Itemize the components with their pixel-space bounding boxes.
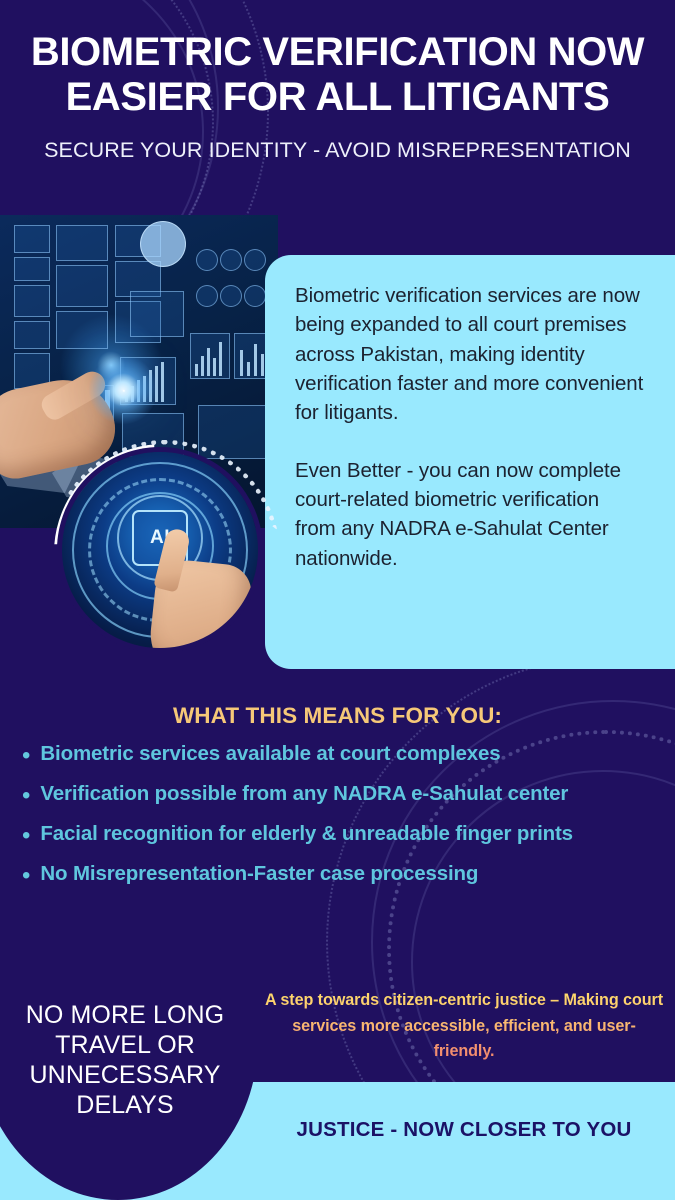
photo-gauge <box>220 249 242 271</box>
bullet-dot-icon: • <box>22 744 30 768</box>
touching-hand <box>146 557 254 648</box>
info-paragraph-2: Even Better - you can now complete court… <box>295 456 645 573</box>
photo-tile <box>14 257 50 281</box>
photo-area-chart <box>130 291 184 337</box>
list-item: • Biometric services available at court … <box>14 742 664 768</box>
closing-statement: JUSTICE - NOW CLOSER TO YOU <box>262 1118 666 1142</box>
headline: BIOMETRIC VERIFICATION NOW EASIER FOR AL… <box>12 30 663 120</box>
photo-gauge <box>244 285 266 307</box>
bullet-label: Biometric services available at court co… <box>40 742 500 766</box>
list-item: • No Misrepresentation-Faster case proce… <box>14 862 664 888</box>
tagline-text: A step towards citizen-centric justice –… <box>262 988 666 1065</box>
photo-tile <box>14 285 50 317</box>
list-item: • Verification possible from any NADRA e… <box>14 782 664 808</box>
info-panel: Biometric verification services are now … <box>265 255 675 669</box>
bullet-dot-icon: • <box>22 824 30 848</box>
infographic-poster: BIOMETRIC VERIFICATION NOW EASIER FOR AL… <box>0 0 675 1200</box>
bullet-dot-icon: • <box>22 864 30 888</box>
list-item: • Facial recognition for elderly & unrea… <box>14 822 664 848</box>
photo-gauge <box>244 249 266 271</box>
photo-gauge <box>220 285 242 307</box>
photo-tile <box>56 225 108 261</box>
poster-header: BIOMETRIC VERIFICATION NOW EASIER FOR AL… <box>0 0 675 163</box>
photo-tile <box>56 311 108 349</box>
bullet-label: Verification possible from any NADRA e-S… <box>40 782 568 806</box>
bullet-label: Facial recognition for elderly & unreada… <box>40 822 573 846</box>
means-bullet-list: • Biometric services available at court … <box>14 742 664 902</box>
photo-gauge <box>196 249 218 271</box>
shield-text: NO MORE LONG TRAVEL OR UNNECESSARY DELAY… <box>0 1000 250 1120</box>
info-paragraph-1: Biometric verification services are now … <box>295 281 645 428</box>
photo-tile <box>14 321 50 349</box>
means-section-title: WHAT THIS MEANS FOR YOU: <box>0 703 675 729</box>
bullet-dot-icon: • <box>22 784 30 808</box>
photo-bar-chart <box>190 333 230 379</box>
photo-tile <box>56 265 108 307</box>
bullet-label: No Misrepresentation-Faster case process… <box>40 862 478 886</box>
subheadline: SECURE YOUR IDENTITY - AVOID MISREPRESEN… <box>0 138 675 163</box>
photo-tile <box>14 225 50 253</box>
light-flare-core <box>123 390 125 392</box>
photo-pie-chart <box>140 221 186 267</box>
ai-fingerprint-touch-photo: AI <box>62 452 258 648</box>
photo-gauge <box>196 285 218 307</box>
